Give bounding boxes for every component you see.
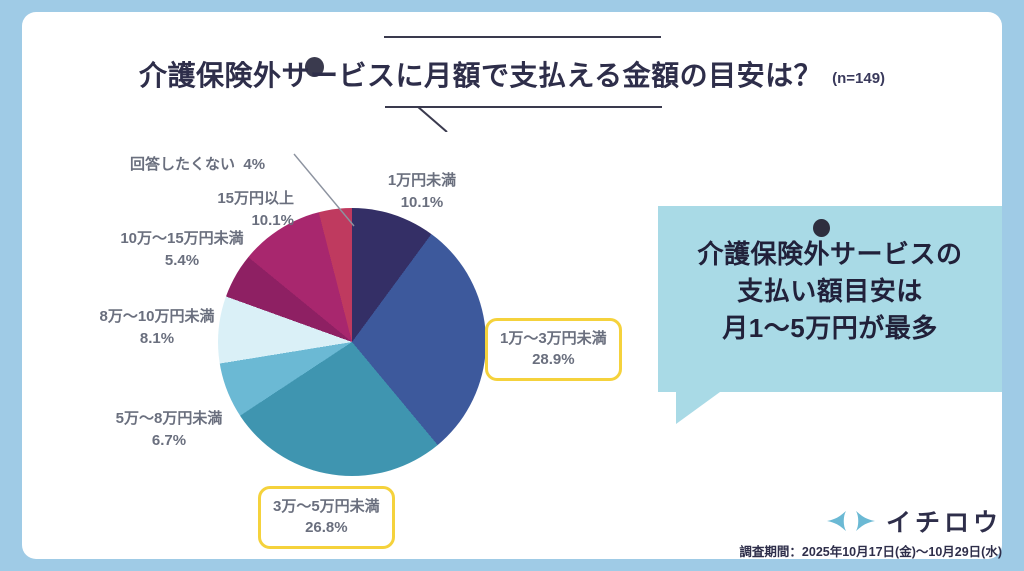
highlight-1-to-3-label: 1万〜3万円未満 xyxy=(500,330,607,347)
callout-accent-dot-icon xyxy=(813,219,830,237)
page-title: 介護保険外サービスに月額で支払える金額の目安は？ xyxy=(139,60,822,91)
title-block: 介護保険外サービスに月額で支払える金額の目安は？(n=149) xyxy=(22,30,1002,122)
pie-label-5-to-8-value: 6.7% xyxy=(104,430,234,452)
pie-label-10-to-15: 10万〜15万円未満 5.4% xyxy=(100,228,264,272)
highlight-3-to-5-value: 26.8% xyxy=(273,517,380,538)
callout-text: 介護保険外サービスの 支払い額目安は 月1〜5万円が最多 xyxy=(658,236,1002,347)
logo-arrows-icon xyxy=(825,509,877,533)
highlight-1-to-3-value: 28.9% xyxy=(500,349,607,370)
pie-label-10-to-15-text: 10万〜15万円未満 xyxy=(120,230,243,247)
pie-label-10-to-15-value: 5.4% xyxy=(100,250,264,272)
highlight-3-to-5-label: 3万〜5万円未満 xyxy=(273,498,380,515)
callout-line-3: 月1〜5万円が最多 xyxy=(658,310,1002,347)
brand-logo: イチロウ xyxy=(712,504,1002,538)
callout-line-2: 支払い額目安は xyxy=(658,273,1002,310)
title-pointer-icon xyxy=(417,106,451,132)
pie-label-5-to-8-text: 5万〜8万円未満 xyxy=(116,410,223,427)
title-row: 介護保険外サービスに月額で支払える金額の目安は？(n=149) xyxy=(22,54,1002,94)
pie-label-under-1: 1万円未満 10.1% xyxy=(372,170,472,214)
title-rule-top xyxy=(384,36,661,38)
pie-label-8-to-10-value: 8.1% xyxy=(80,328,234,350)
logo-text: イチロウ xyxy=(886,503,1002,539)
content-card: 介護保険外サービスに月額で支払える金額の目安は？(n=149) 回答したくない … xyxy=(22,12,1002,559)
highlight-box-1-to-3: 1万〜3万円未満 28.9% xyxy=(485,318,622,381)
callout-line-1: 介護保険外サービスの xyxy=(658,236,1002,273)
pie-label-8-to-10: 8万〜10万円未満 8.1% xyxy=(80,306,234,350)
pie-label-no-reply: 回答したくない 4% xyxy=(130,154,265,176)
pie-label-over-15-text: 15万円以上 xyxy=(217,190,294,207)
survey-period: 調査期間：2025年10月17日(金)〜10月29日(水) xyxy=(712,541,1002,560)
pie-label-no-reply-value: 4% xyxy=(243,156,265,173)
infographic-frame: 介護保険外サービスに月額で支払える金額の目安は？(n=149) 回答したくない … xyxy=(0,0,1024,571)
pie-label-no-reply-text: 回答したくない xyxy=(130,156,235,173)
pie-label-under-1-text: 1万円未満 xyxy=(388,172,456,189)
sample-size: (n=149) xyxy=(832,70,885,87)
pie-label-8-to-10-text: 8万〜10万円未満 xyxy=(99,308,214,325)
highlight-box-3-to-5: 3万〜5万円未満 26.8% xyxy=(258,486,395,549)
pie-label-over-15: 15万円以上 10.1% xyxy=(142,188,294,232)
callout-tail-icon xyxy=(676,392,720,424)
pie-label-5-to-8: 5万〜8万円未満 6.7% xyxy=(104,408,234,452)
pie-label-under-1-value: 10.1% xyxy=(372,192,472,214)
